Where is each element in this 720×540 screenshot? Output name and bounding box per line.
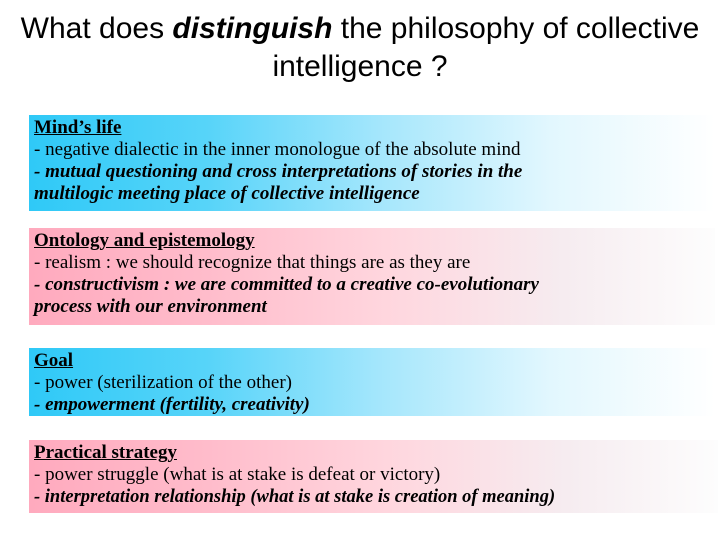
panel-heading: Practical strategy: [34, 442, 177, 463]
page-title: What does distinguish the philosophy of …: [0, 10, 720, 86]
presentation-slide: What does distinguish the philosophy of …: [0, 0, 720, 540]
panel-line: - empowerment (fertility, creativity): [34, 394, 715, 416]
panel-line: - power (sterilization of the other): [34, 372, 715, 394]
panel-line: - realism : we should recognize that thi…: [34, 252, 715, 274]
content-panel-goal: Goal - power (sterilization of the other…: [29, 348, 715, 416]
title-part-two: the philosophy of collective intelligenc…: [272, 12, 699, 83]
panel-heading: Ontology and epistemology: [34, 230, 255, 251]
panel-heading: Mind’s life: [34, 117, 121, 138]
panel-heading: Goal: [34, 350, 73, 371]
title-part-one: What does: [21, 12, 173, 45]
panel-line: process with our environment: [34, 296, 715, 318]
panel-line: - mutual questioning and cross interpret…: [34, 161, 715, 183]
panel-line: - interpretation relationship (what is a…: [34, 486, 718, 508]
panel-line: - power struggle (what is at stake is de…: [34, 464, 718, 486]
content-panel-ontology-and-epistemology: Ontology and epistemology - realism : we…: [29, 228, 715, 325]
panel-line: - constructivism : we are committed to a…: [34, 274, 715, 296]
title-emphasis-word: distinguish: [172, 12, 332, 45]
content-panel-minds-life: Mind’s life - negative dialectic in the …: [29, 115, 715, 211]
panel-line: - negative dialectic in the inner monolo…: [34, 139, 715, 161]
content-panel-practical-strategy: Practical strategy - power struggle (wha…: [29, 440, 718, 513]
panel-line: multilogic meeting place of collective i…: [34, 183, 715, 205]
